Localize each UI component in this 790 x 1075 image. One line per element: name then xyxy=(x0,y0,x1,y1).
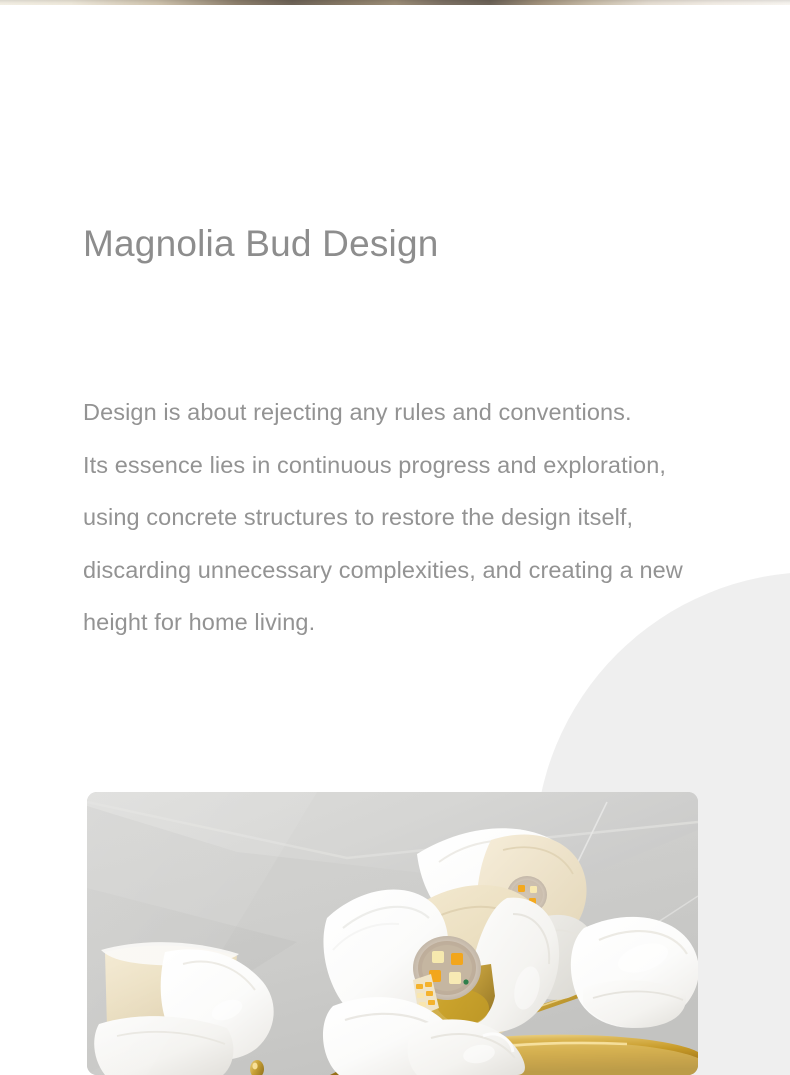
previous-image-sliver xyxy=(0,0,790,5)
description-line: Its essence lies in continuous progress … xyxy=(83,439,783,492)
product-photo xyxy=(87,792,698,1075)
product-photo-illustration xyxy=(87,792,698,1075)
description-paragraph: Design is about rejecting any rules and … xyxy=(83,386,783,649)
page-title: Magnolia Bud Design xyxy=(83,218,439,270)
description-line: using concrete structures to restore the… xyxy=(83,491,783,544)
description-line: Design is about rejecting any rules and … xyxy=(83,386,783,439)
description-line: discarding unnecessary complexities, and… xyxy=(83,544,783,597)
product-detail-page: Magnolia Bud Design Design is about reje… xyxy=(0,0,790,1075)
description-line: height for home living. xyxy=(83,596,783,649)
